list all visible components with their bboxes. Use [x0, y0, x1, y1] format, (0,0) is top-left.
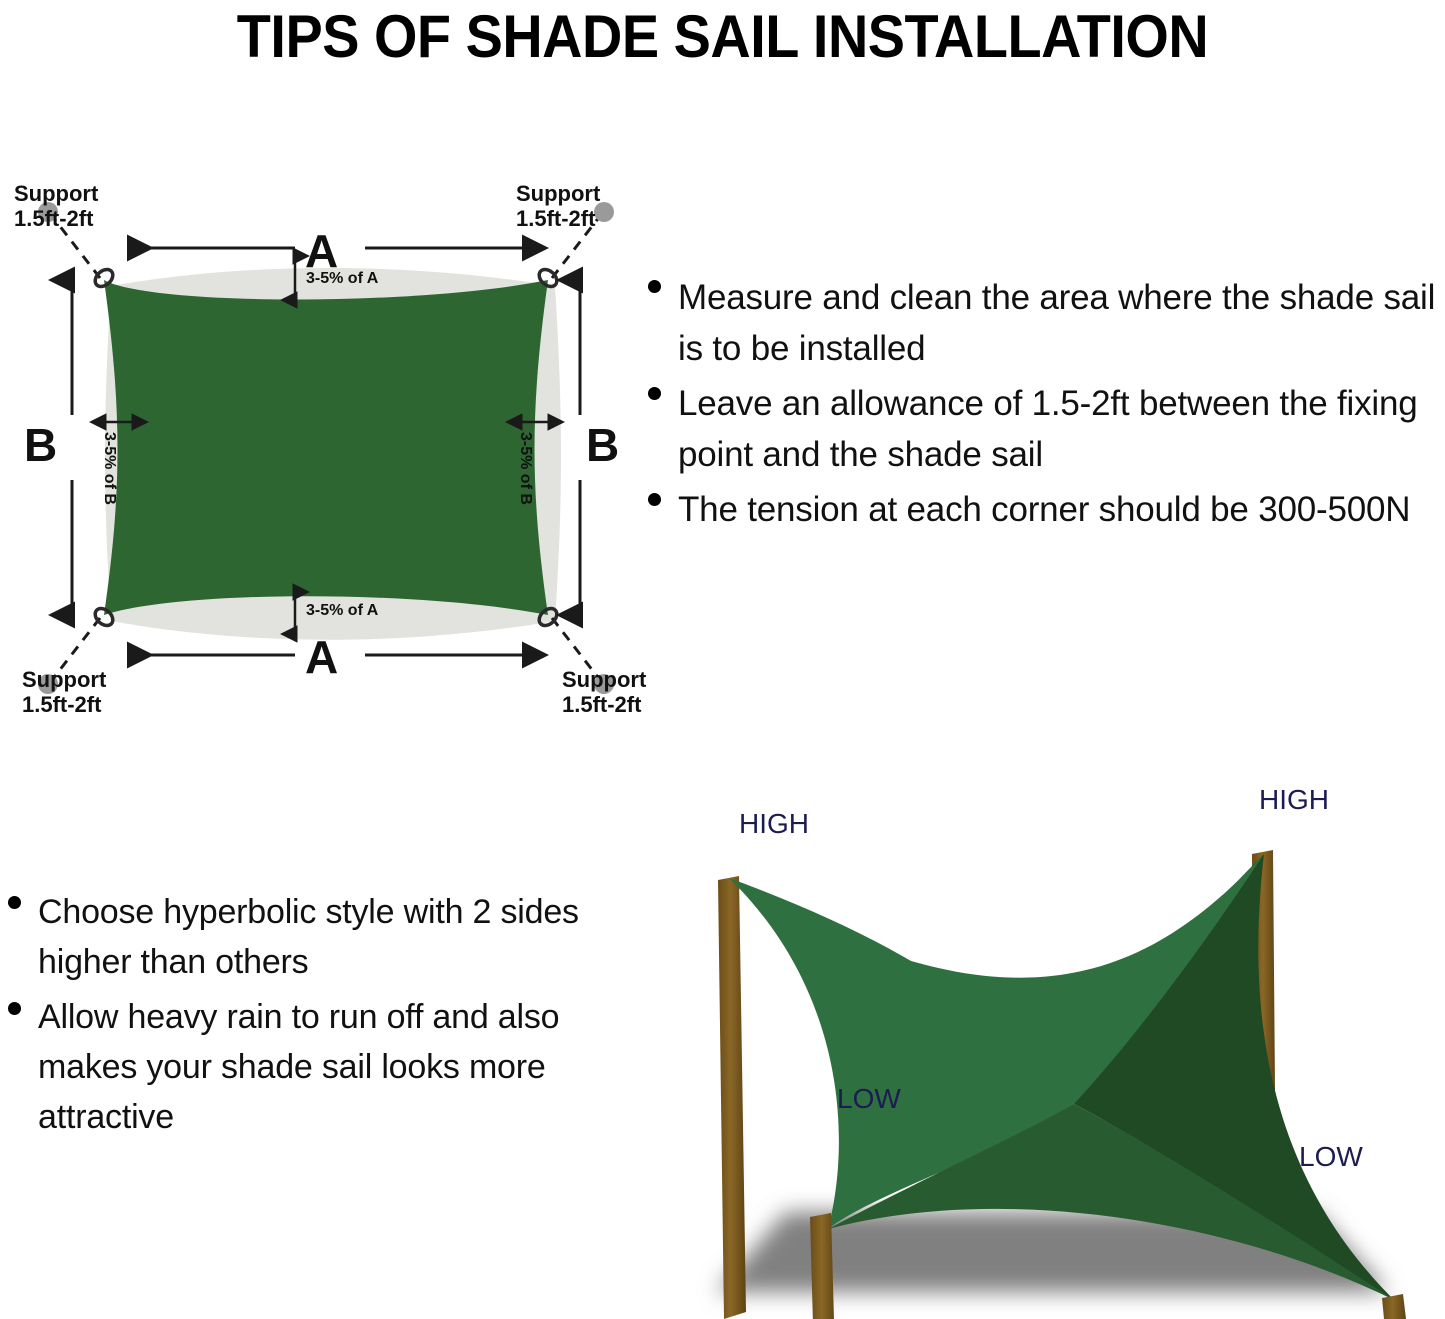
post-label-low-right: LOW	[1299, 1141, 1363, 1173]
post-label-high-right: HIGH	[1259, 784, 1329, 816]
list-item: Allow heavy rain to run off and also mak…	[8, 993, 628, 1142]
tip-text: Allow heavy rain to run off and also mak…	[38, 993, 628, 1142]
page-title: TIPS OF SHADE SAIL INSTALLATION	[51, 2, 1395, 71]
hyperbolic-sail-illustration: HIGH HIGH LOW LOW	[676, 792, 1445, 1319]
bullet-dot-icon	[8, 896, 21, 909]
tip-text: Leave an allowance of 1.5-2ft between th…	[678, 378, 1445, 480]
curvature-label-right: 3-5% of B	[516, 432, 534, 505]
sail-body	[104, 280, 548, 615]
dimension-letter-b-left: B	[24, 418, 57, 472]
support-label-bottom-right: Support 1.5ft-2ft	[562, 668, 646, 717]
tip-text: Measure and clean the area where the sha…	[678, 272, 1445, 374]
post-label-low-left: LOW	[837, 1083, 901, 1115]
support-label-top-right: Support 1.5ft-2ft	[516, 182, 600, 231]
curvature-label-bottom: 3-5% of A	[306, 602, 378, 620]
curvature-label-top: 3-5% of A	[306, 270, 378, 288]
post-label-high-left: HIGH	[739, 808, 809, 840]
rectangular-sail-diagram: Support 1.5ft-2ft Support 1.5ft-2ft Supp…	[0, 160, 660, 730]
curvature-label-left: 3-5% of B	[100, 432, 118, 505]
list-item: Leave an allowance of 1.5-2ft between th…	[648, 378, 1445, 480]
hyperbolic-style-tips-list: Choose hyperbolic style with 2 sides hig…	[8, 888, 628, 1148]
list-item: The tension at each corner should be 300…	[648, 484, 1445, 535]
post-high-left	[718, 876, 746, 1319]
post-low-right	[1382, 1294, 1406, 1319]
list-item: Choose hyperbolic style with 2 sides hig…	[8, 888, 628, 987]
bullet-dot-icon	[8, 1002, 21, 1015]
infographic-page: TIPS OF SHADE SAIL INSTALLATION	[0, 0, 1445, 1319]
bullet-dot-icon	[648, 493, 661, 506]
installation-tips-list: Measure and clean the area where the sha…	[648, 272, 1445, 539]
hyperbolic-sail-svg	[676, 792, 1445, 1319]
tip-text: Choose hyperbolic style with 2 sides hig…	[38, 888, 628, 987]
tip-text: The tension at each corner should be 300…	[678, 484, 1410, 535]
bullet-dot-icon	[648, 280, 661, 293]
list-item: Measure and clean the area where the sha…	[648, 272, 1445, 374]
dimension-letter-b-right: B	[586, 418, 619, 472]
support-label-top-left: Support 1.5ft-2ft	[14, 182, 98, 231]
dimension-letter-a-bottom: A	[305, 630, 338, 684]
bullet-dot-icon	[648, 387, 661, 400]
support-label-bottom-left: Support 1.5ft-2ft	[22, 668, 106, 717]
